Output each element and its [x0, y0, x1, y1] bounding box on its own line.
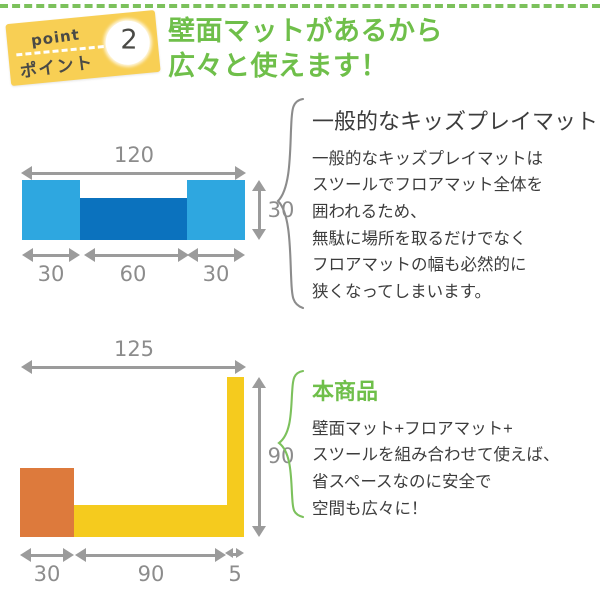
- product-stool-width-arrow-right: [63, 548, 74, 562]
- common-mat-title: 一般的なキッズプレイマット: [312, 108, 598, 137]
- product-wall-width-arrow-right: [236, 548, 244, 558]
- product-floor-width-arrow-left: [75, 548, 86, 562]
- product-callout: 本商品 壁面マット+フロアマット+ スツールを組み合わせて使えば、 省スペースな…: [312, 378, 598, 522]
- product-stool-width-arrow-left: [20, 548, 31, 562]
- common-body-line-1: 一般的なキッズプレイマットは: [312, 146, 598, 173]
- product-body-line-3: 省スペースなのに安全で: [312, 469, 598, 496]
- common-body-line-6: 狭くなってしまいます。: [312, 279, 598, 306]
- product-body-line-1: 壁面マット+フロアマット+: [312, 416, 598, 443]
- product-floor-mat: [74, 505, 227, 537]
- product-wall-width-arrow-left: [225, 548, 233, 558]
- product-wall-mat: [227, 377, 244, 537]
- product-stool-width-label: 30: [17, 562, 77, 586]
- product-total-width-label: 125: [104, 337, 164, 361]
- product-total-width-line: [30, 366, 238, 369]
- product-stool: [20, 468, 74, 537]
- product-mat-diagram: 125 90 30 90 5: [0, 0, 290, 600]
- common-mat-callout: 一般的なキッズプレイマット 一般的なキッズプレイマットは スツールでフロアマット…: [312, 108, 598, 306]
- product-title: 本商品: [312, 378, 598, 407]
- product-wall-height-line: [258, 386, 261, 528]
- product-floor-width-label: 90: [121, 562, 181, 586]
- product-body: 壁面マット+フロアマット+ スツールを組み合わせて使えば、 省スペースなのに安全…: [312, 416, 598, 523]
- product-floor-width-line: [84, 554, 218, 557]
- common-body-line-5: フロアマットの幅も必然的に: [312, 252, 598, 279]
- product-section-brace: [274, 368, 306, 520]
- product-total-width-arrow-right: [235, 360, 246, 374]
- infographic-canvas: point ポイント 2 壁面マットがあるから 広々と使えます！ 120 30 …: [0, 0, 600, 600]
- common-body-line-4: 無駄に場所を取るだけでなく: [312, 226, 598, 253]
- product-wall-height-arrow-down: [252, 526, 266, 537]
- product-stool-width-line: [29, 554, 65, 557]
- common-body-line-3: 囲われるため、: [312, 199, 598, 226]
- product-wall-width-label: 5: [205, 562, 265, 586]
- product-total-width-arrow-left: [21, 360, 32, 374]
- product-body-line-4: 空間も広々に！: [312, 496, 598, 523]
- common-mat-body: 一般的なキッズプレイマットは スツールでフロアマット全体を 囲われるため、 無駄…: [312, 146, 598, 306]
- common-body-line-2: スツールでフロアマット全体を: [312, 172, 598, 199]
- product-body-line-2: スツールを組み合わせて使えば、: [312, 442, 598, 469]
